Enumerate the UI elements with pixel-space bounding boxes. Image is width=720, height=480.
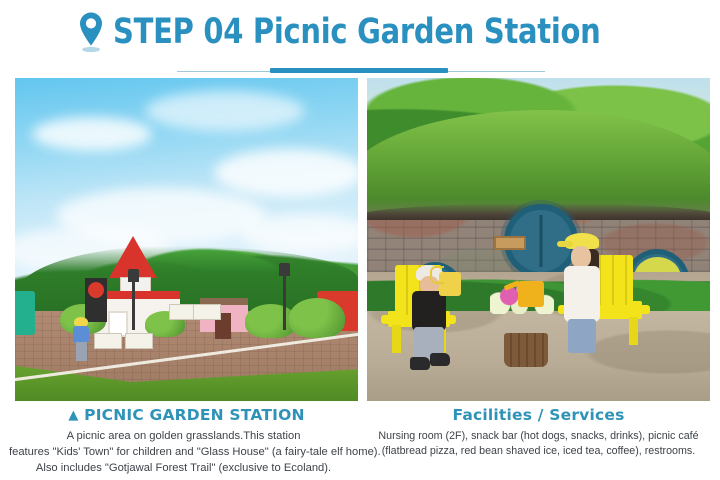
- caption-line: (flatbread pizza, red bean shaved ice, i…: [367, 444, 710, 459]
- left-caption-heading: ▲ PICNIC GARDEN STATION: [68, 406, 304, 424]
- green-vehicle: [15, 291, 35, 335]
- wooden-sign: [494, 236, 526, 250]
- map-pin-icon: [77, 11, 105, 53]
- cloud: [214, 149, 358, 197]
- page-title: STEP 04 Picnic Garden Station: [113, 12, 600, 52]
- lamp-post: [283, 272, 286, 330]
- left-caption: ▲ PICNIC GARDEN STATION A picnic area on…: [15, 401, 358, 477]
- panel-facilities-services: Facilities / Services Nursing room (2F),…: [367, 78, 710, 477]
- white-fence: [193, 304, 221, 320]
- divider-accent-bar: [270, 68, 448, 73]
- page-header: STEP 04 Picnic Garden Station: [0, 0, 720, 60]
- triangle-marker-icon: ▲: [68, 408, 78, 423]
- caption-line: features "Kids' Town" for children and "…: [9, 445, 358, 461]
- cloud: [145, 91, 305, 131]
- caption-line: A picnic area on golden grasslands.This …: [9, 429, 358, 445]
- caption-line: Nursing room (2F), snack bar (hot dogs, …: [367, 429, 710, 444]
- girl-figure: [563, 233, 603, 353]
- right-caption: Facilities / Services Nursing room (2F),…: [367, 401, 710, 459]
- right-caption-body: Nursing room (2F), snack bar (hot dogs, …: [367, 429, 710, 459]
- white-fence: [94, 333, 122, 349]
- yellow-bucket: [439, 272, 461, 296]
- panel-row: ▲ PICNIC GARDEN STATION A picnic area on…: [0, 78, 720, 477]
- bush: [289, 298, 345, 338]
- white-fence: [125, 333, 153, 349]
- cloud: [32, 117, 152, 151]
- child-figure: [73, 317, 89, 361]
- panel-picnic-garden-station: ▲ PICNIC GARDEN STATION A picnic area on…: [15, 78, 358, 477]
- left-caption-heading-text: PICNIC GARDEN STATION: [84, 406, 305, 424]
- road-sign: [85, 278, 107, 322]
- title-divider: [0, 66, 720, 78]
- left-caption-body: A picnic area on golden grasslands.This …: [15, 429, 358, 477]
- wooden-barrel-planter: [504, 333, 548, 367]
- caption-line: Also includes "Gotjawal Forest Trail" (e…: [9, 461, 358, 477]
- lamp-post: [132, 278, 135, 330]
- picnic-garden-station-photo: [15, 78, 358, 401]
- facilities-services-photo: [367, 78, 710, 401]
- right-caption-heading: Facilities / Services: [452, 406, 624, 424]
- yellow-watering-can: [518, 281, 544, 307]
